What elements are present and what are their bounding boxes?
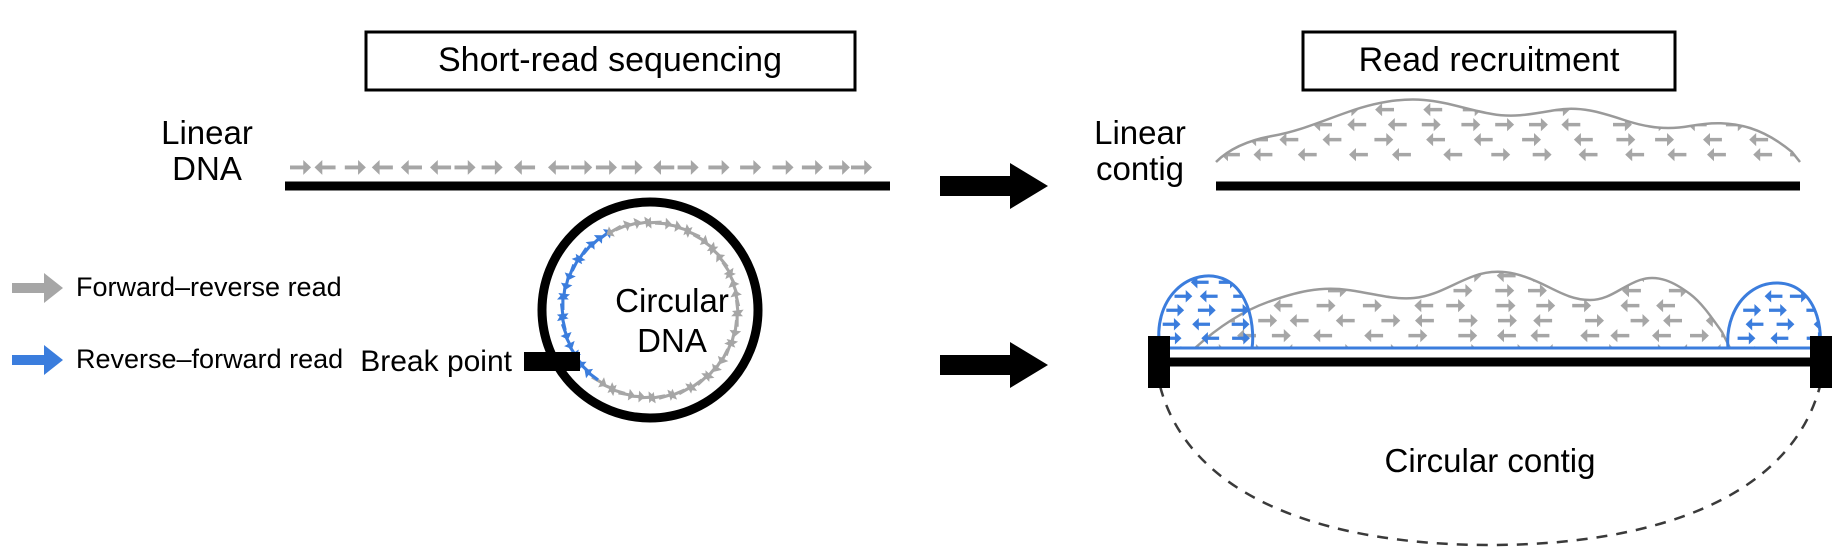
contig-end-cap-left	[1148, 336, 1170, 388]
short-read-glyph	[1563, 269, 1582, 282]
short-read-glyph	[1769, 304, 1787, 317]
right-panel-title: Read recruitment	[1303, 32, 1675, 90]
short-read-glyph	[514, 160, 535, 175]
short-read-glyph	[1576, 284, 1595, 297]
linear-dna-label-line2: DNA	[172, 150, 242, 187]
short-read-glyph	[1393, 269, 1412, 282]
short-read-glyph	[596, 160, 617, 175]
short-read-glyph	[613, 218, 633, 235]
short-read-glyph	[622, 160, 643, 175]
contig-end-cap-right	[1810, 336, 1832, 388]
circular-dna-label-line2: DNA	[637, 322, 707, 359]
figure-root: Short-read sequencing Read recruitment L…	[0, 0, 1840, 548]
short-read-glyph	[1192, 318, 1210, 331]
short-read-glyph	[773, 160, 794, 175]
short-read-glyph	[1651, 103, 1670, 116]
short-read-glyph	[1824, 284, 1840, 297]
short-read-glyph	[548, 160, 569, 175]
short-read-glyph	[1745, 163, 1764, 176]
short-read-glyph	[1245, 284, 1264, 297]
short-read-glyph	[1518, 163, 1537, 176]
short-read-glyph	[1198, 304, 1216, 317]
short-read-glyph	[1427, 269, 1446, 282]
short-read-glyph	[455, 160, 476, 175]
legend-item-forward-reverse[interactable]: Forward–reverse read	[12, 272, 342, 303]
short-read-glyph	[1281, 163, 1300, 176]
linear-dna-group: Linear DNA	[161, 114, 890, 187]
short-read-glyph	[571, 160, 592, 175]
short-read-glyph	[1175, 290, 1193, 303]
short-read-glyph	[1256, 103, 1275, 116]
short-read-glyph	[345, 160, 366, 175]
short-read-glyph	[1602, 269, 1621, 282]
short-read-glyph	[1796, 163, 1815, 176]
break-point-label: Break point	[360, 345, 512, 378]
linear-contig-label-line1: Linear	[1094, 114, 1186, 151]
short-read-glyph	[851, 160, 872, 175]
circular-dna-label-line1: Circular	[615, 282, 729, 319]
short-read-glyph	[729, 319, 743, 337]
linear-dna-read-layer	[290, 160, 872, 175]
short-read-glyph	[482, 160, 503, 175]
short-read-glyph	[1805, 269, 1824, 282]
flow-arrow-top	[940, 163, 1048, 209]
short-read-glyph	[1788, 329, 1807, 342]
short-read-glyph	[1757, 269, 1776, 282]
short-read-glyph	[1671, 163, 1690, 176]
short-read-glyph	[1231, 163, 1250, 176]
linear-contig-coverage-outline	[1216, 100, 1800, 163]
circular-contig-group: Circular contig	[1148, 269, 1840, 545]
short-read-glyph	[1293, 269, 1312, 282]
short-read-glyph	[1738, 332, 1756, 345]
circular-contig-label: Circular contig	[1385, 442, 1596, 479]
short-read-glyph	[653, 160, 674, 175]
linear-contig-group: Linear contig	[1094, 100, 1820, 192]
short-read-glyph	[1266, 118, 1285, 131]
short-read-glyph	[617, 387, 636, 402]
left-panel-title-label: Short-read sequencing	[438, 41, 782, 79]
short-read-glyph	[1342, 269, 1361, 282]
legend-item-label: Reverse–forward read	[76, 344, 343, 374]
short-read-glyph	[1771, 332, 1789, 345]
short-read-glyph	[1801, 133, 1820, 146]
short-read-glyph	[1158, 276, 1176, 289]
short-read-glyph	[1752, 344, 1771, 357]
flow-arrow-right-icon	[940, 163, 1048, 209]
short-read-glyph	[563, 262, 580, 282]
short-read-glyph	[1690, 103, 1709, 116]
short-read-glyph	[1706, 299, 1725, 312]
short-read-glyph	[1427, 163, 1446, 176]
short-read-glyph	[315, 160, 336, 175]
short-read-glyph	[1293, 103, 1312, 116]
short-read-glyph	[1350, 163, 1369, 176]
short-read-glyph	[1782, 103, 1801, 116]
right-panel-title-label: Read recruitment	[1359, 41, 1620, 79]
short-read-glyph	[290, 160, 311, 175]
short-read-glyph	[1765, 290, 1783, 303]
short-read-glyph	[1714, 163, 1733, 176]
short-read-glyph	[1380, 163, 1399, 176]
left-panel-title: Short-read sequencing	[366, 32, 855, 90]
short-read-glyph	[430, 160, 451, 175]
short-read-glyph	[1713, 284, 1732, 297]
flow-arrow-bottom	[940, 342, 1048, 388]
short-read-glyph	[678, 160, 699, 175]
short-read-glyph	[1217, 103, 1236, 116]
short-read-glyph	[1600, 163, 1619, 176]
circular-dna-group: Break point Circular DNA	[360, 202, 758, 418]
short-read-glyph	[1826, 290, 1840, 303]
short-read-glyph	[802, 160, 823, 175]
short-read-glyph	[1563, 163, 1582, 176]
circular-contig-coverage-outline	[1195, 272, 1730, 348]
legend-item-label: Forward–reverse read	[76, 272, 342, 302]
short-read-glyph	[708, 160, 729, 175]
short-read-glyph	[401, 160, 422, 175]
legend: Forward–reverse read Reverse–forward rea…	[12, 272, 343, 375]
flow-arrow-right-icon	[940, 342, 1048, 388]
short-read-glyph	[1467, 163, 1486, 176]
linear-dna-label-line1: Linear	[161, 114, 253, 151]
short-read-glyph	[829, 160, 850, 175]
break-point-tick-icon	[524, 352, 580, 371]
short-read-glyph	[1231, 118, 1250, 131]
reverse-forward-read-arrow-icon	[12, 345, 63, 375]
short-read-glyph	[1201, 133, 1220, 146]
short-read-glyph	[1743, 304, 1761, 317]
short-read-glyph	[1773, 118, 1792, 131]
short-read-glyph	[1170, 269, 1189, 282]
short-read-glyph	[1200, 290, 1218, 303]
short-read-glyph	[1163, 318, 1181, 331]
short-read-glyph	[1312, 163, 1331, 176]
short-read-glyph	[1263, 269, 1282, 282]
short-read-glyph	[1756, 329, 1775, 342]
short-read-glyph	[1732, 103, 1751, 116]
forward-reverse-read-arrow-icon	[12, 273, 63, 303]
short-read-glyph	[1814, 318, 1832, 331]
short-read-glyph	[740, 160, 761, 175]
short-read-glyph	[1777, 318, 1795, 331]
short-read-glyph	[1681, 269, 1700, 282]
short-read-glyph	[1166, 304, 1184, 317]
short-read-glyph	[372, 160, 393, 175]
legend-item-reverse-forward[interactable]: Reverse–forward read	[12, 344, 343, 375]
short-read-glyph	[1720, 269, 1739, 282]
linear-contig-label-line2: contig	[1096, 150, 1184, 187]
short-read-glyph	[1814, 299, 1833, 312]
short-read-glyph	[1633, 163, 1652, 176]
short-read-glyph	[1746, 318, 1764, 331]
